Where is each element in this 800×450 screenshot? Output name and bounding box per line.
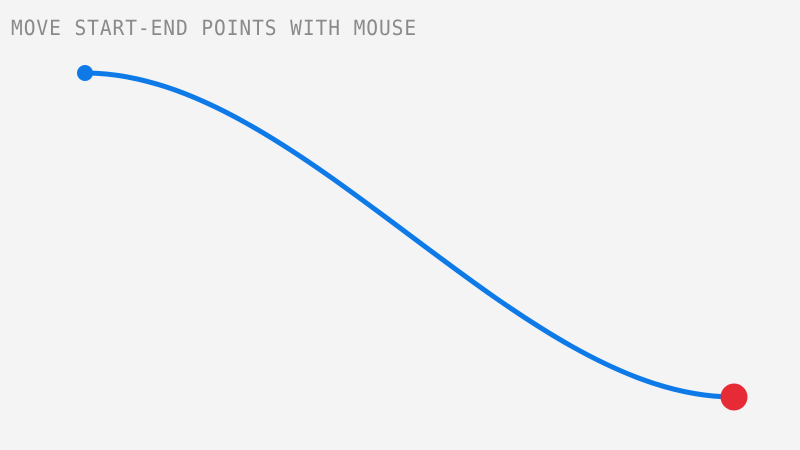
bezier-demo-app: MOVE START-END POINTS WITH MOUSE xyxy=(0,0,800,450)
end-point-handle[interactable] xyxy=(721,384,748,411)
start-point-handle[interactable] xyxy=(77,65,93,81)
curve-canvas[interactable] xyxy=(0,0,800,450)
